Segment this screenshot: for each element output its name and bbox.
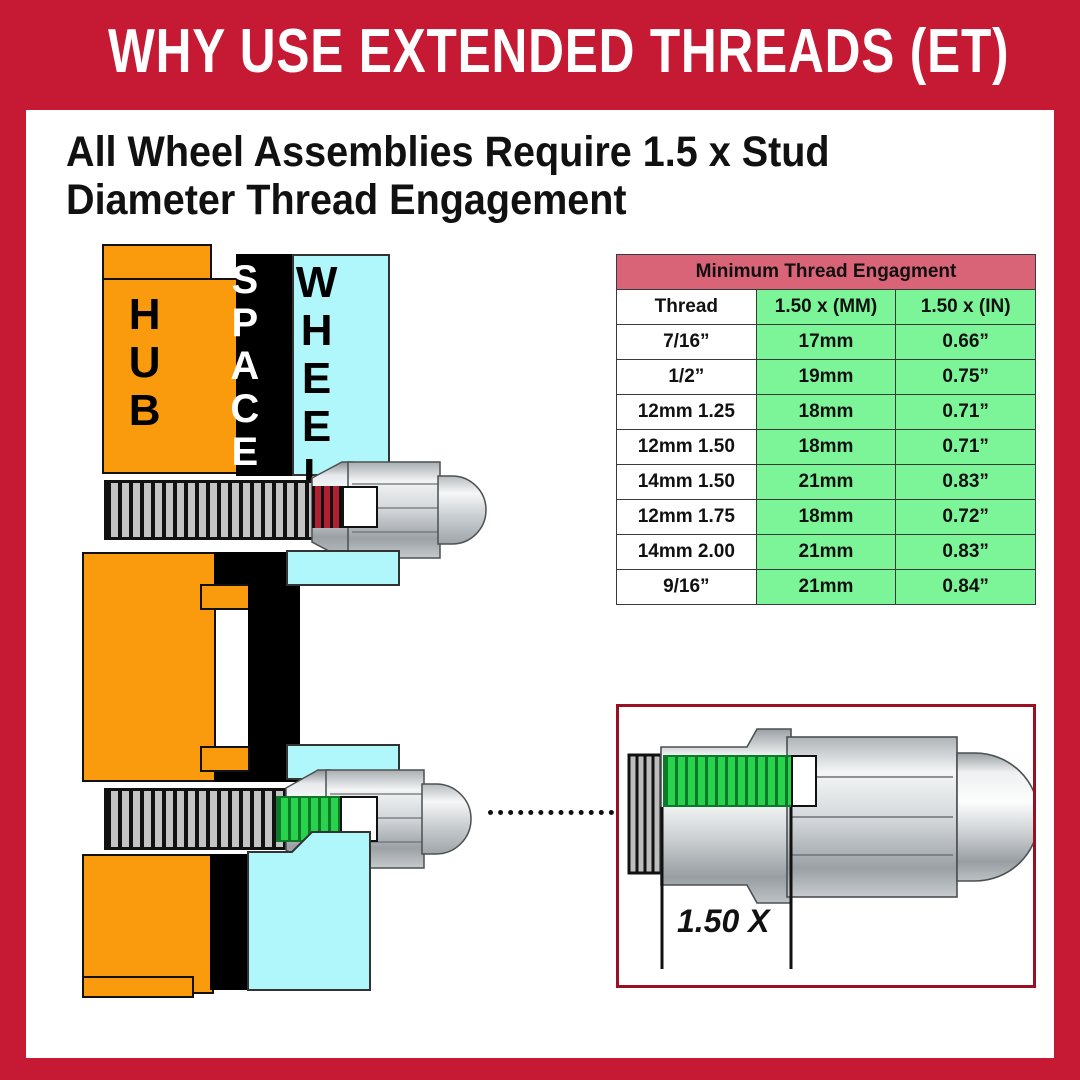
cell-in: 0.71”	[896, 430, 1036, 465]
thread-engagement-zone-sufficient	[276, 796, 342, 842]
cell-in: 0.71”	[896, 395, 1036, 430]
callout-thread-gap	[791, 755, 817, 807]
callout-lug-nut-graphic	[619, 707, 1033, 985]
spacer-notch-upper	[214, 552, 250, 586]
wheel-stud-lower	[104, 788, 300, 850]
cell-thread: 12mm 1.25	[617, 395, 757, 430]
subtitle-line-1: All Wheel Assemblies Require 1.5 x Stud	[66, 128, 949, 176]
hub-lower-step-lower	[200, 746, 250, 772]
cell-in: 0.84”	[896, 570, 1036, 605]
table-row: 1/2”19mm0.75”	[617, 360, 1036, 395]
cell-thread: 1/2”	[617, 360, 757, 395]
cell-mm: 21mm	[756, 465, 896, 500]
wheel-flange-lower	[286, 744, 400, 780]
table-title: Minimum Thread Engagment	[617, 255, 1036, 290]
table-row: 14mm 2.0021mm0.83”	[617, 535, 1036, 570]
table-row: 14mm 1.5021mm0.83”	[617, 465, 1036, 500]
infographic-canvas: WHY USE EXTENDED THREADS (ET) All Wheel …	[0, 0, 1080, 1080]
cell-thread: 12mm 1.75	[617, 500, 757, 535]
wheel-flange-upper	[286, 550, 400, 586]
border-bottom	[0, 1058, 1080, 1080]
cell-mm: 19mm	[756, 360, 896, 395]
cell-mm: 18mm	[756, 430, 896, 465]
hub-bottom-foot	[82, 976, 194, 998]
cell-in: 0.83”	[896, 535, 1036, 570]
table-row: 12mm 1.5018mm0.71”	[617, 430, 1036, 465]
callout-thread-engagement-zone	[663, 755, 793, 807]
table-row: 9/16”21mm0.84”	[617, 570, 1036, 605]
border-right	[1054, 110, 1080, 1080]
cell-in: 0.66”	[896, 325, 1036, 360]
cell-in: 0.83”	[896, 465, 1036, 500]
column-header-in: 1.50 x (IN)	[896, 290, 1036, 325]
hub-lower-body	[82, 552, 216, 782]
hub-bottom-body	[82, 854, 214, 994]
cell-mm: 18mm	[756, 500, 896, 535]
table-header-row: Thread 1.50 x (MM) 1.50 x (IN)	[617, 290, 1036, 325]
detail-callout-box: 1.50 X	[616, 704, 1036, 988]
cell-mm: 21mm	[756, 570, 896, 605]
thread-gap-upper	[342, 486, 378, 528]
column-header-thread: Thread	[617, 290, 757, 325]
table-row: 12mm 1.7518mm0.72”	[617, 500, 1036, 535]
thread-engagement-zone-insufficient	[312, 486, 342, 528]
cell-mm: 17mm	[756, 325, 896, 360]
thread-gap-lower	[340, 796, 378, 842]
cell-thread: 12mm 1.50	[617, 430, 757, 465]
spacer-label: SPACER	[228, 258, 261, 516]
stud-thread-pattern-lower	[107, 791, 297, 847]
header-banner: WHY USE EXTENDED THREADS (ET)	[0, 0, 1080, 110]
page-subtitle: All Wheel Assemblies Require 1.5 x Stud …	[66, 128, 949, 224]
subtitle-line-2: Diameter Thread Engagement	[66, 176, 949, 224]
table-row: 12mm 1.2518mm0.71”	[617, 395, 1036, 430]
hub-upper	[102, 244, 212, 280]
thread-engagement-table: Minimum Thread Engagment Thread 1.50 x (…	[616, 254, 1036, 605]
hub-label: HUB	[126, 290, 162, 434]
cell-thread: 14mm 1.50	[617, 465, 757, 500]
banner-title: WHY USE EXTENDED THREADS (ET)	[108, 16, 972, 87]
cell-in: 0.75”	[896, 360, 1036, 395]
cell-mm: 21mm	[756, 535, 896, 570]
spacer-bottom	[210, 854, 250, 990]
wheel-assembly-diagram: HUB SPACER WHEEL	[80, 240, 600, 1010]
cell-thread: 14mm 2.00	[617, 535, 757, 570]
wheel-label: WHEEL	[298, 258, 334, 498]
hub-lower-step-upper	[200, 584, 250, 610]
wheel-stud-upper	[104, 480, 326, 540]
callout-leader-line	[488, 810, 614, 815]
stud-thread-pattern-upper	[107, 483, 323, 537]
table-row: 7/16”17mm0.66”	[617, 325, 1036, 360]
cell-thread: 7/16”	[617, 325, 757, 360]
cell-in: 0.72”	[896, 500, 1036, 535]
cell-thread: 9/16”	[617, 570, 757, 605]
column-header-mm: 1.50 x (MM)	[756, 290, 896, 325]
border-left	[0, 110, 26, 1080]
cell-mm: 18mm	[756, 395, 896, 430]
dimension-label: 1.50 X	[677, 903, 770, 940]
